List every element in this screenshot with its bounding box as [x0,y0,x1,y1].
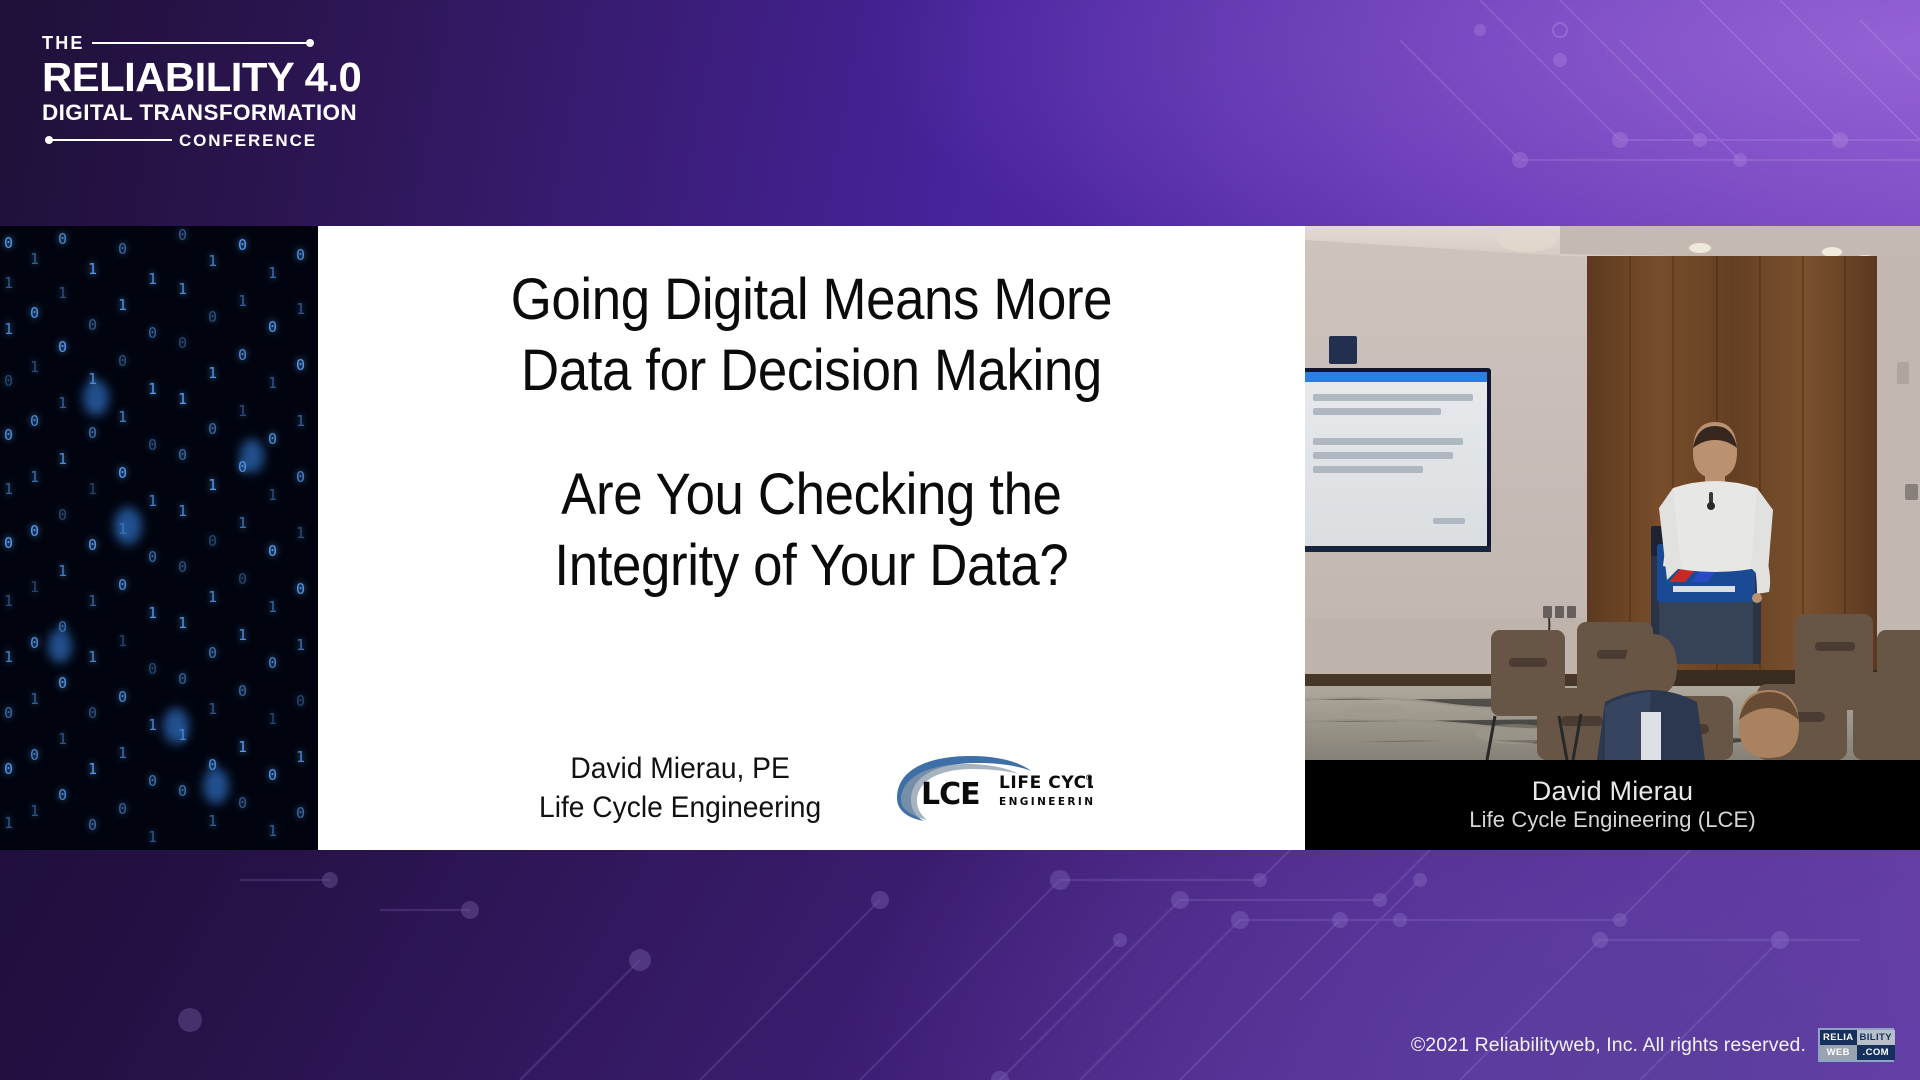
svg-text:1: 1 [238,626,247,644]
svg-text:1: 1 [118,296,127,314]
svg-text:0: 0 [4,760,13,778]
svg-text:ENGINEERING: ENGINEERING [999,796,1093,808]
svg-text:1: 1 [88,592,97,610]
svg-text:0: 0 [118,352,127,370]
svg-text:1: 1 [30,468,39,486]
svg-text:0: 0 [148,660,157,678]
logo-subtitle: DIGITAL TRANSFORMATION [42,101,317,125]
svg-text:1: 1 [88,480,97,498]
svg-text:0: 0 [30,746,39,764]
svg-text:0: 0 [238,794,247,812]
svg-text:0: 0 [208,308,217,326]
slide-title-line1: Going Digital Means More [511,264,1112,335]
svg-text:0: 0 [178,670,187,688]
svg-text:1: 1 [208,252,217,270]
svg-text:1: 1 [208,476,217,494]
slide-footer: David Mierau, PE Life Cycle Engineering … [318,749,1305,828]
svg-text:1: 1 [148,604,157,622]
svg-text:1: 1 [148,828,157,846]
svg-text:1: 1 [4,814,13,832]
svg-text:1: 1 [208,364,217,382]
svg-text:0: 0 [268,766,277,784]
presentation-slide: Going Digital Means More Data for Decisi… [318,226,1305,850]
svg-text:0: 0 [88,316,97,334]
svg-text:1: 1 [4,274,13,292]
svg-text:0: 0 [268,430,277,448]
svg-text:1: 1 [268,822,277,840]
svg-text:0: 0 [148,772,157,790]
slide-title: Going Digital Means More Data for Decisi… [511,264,1112,407]
lce-logo: LCE LIFE CYCLE ® ENGINEERING [893,754,1093,822]
svg-text:LCE: LCE [921,777,980,812]
svg-text:0: 0 [208,644,217,662]
slide-question-line2: Integrity of Your Data? [555,530,1069,601]
svg-text:1: 1 [178,502,187,520]
svg-text:0: 0 [30,412,39,430]
svg-text:1: 1 [88,260,97,278]
svg-text:1: 1 [4,592,13,610]
binary-code-image: 01 10 01 01 10 01 10 10 10 10 10 1 01 01… [0,226,318,850]
svg-text:0: 0 [88,704,97,722]
badge-cell-com: .COM [1857,1045,1895,1060]
logo-conference-text: CONFERENCE [179,132,317,149]
svg-text:LIFE CYCLE: LIFE CYCLE [999,773,1093,793]
svg-text:1: 1 [58,730,67,748]
speaker-lower-third: David Mierau Life Cycle Engineering (LCE… [1305,760,1920,850]
logo-top-row: THE [42,32,317,54]
logo-rule-bottom [49,139,172,141]
lower-third-name: David Mierau [1532,776,1693,807]
svg-text:0: 0 [4,704,13,722]
svg-text:1: 1 [4,320,13,338]
svg-text:1: 1 [238,514,247,532]
svg-text:0: 0 [238,682,247,700]
svg-text:1: 1 [268,264,277,282]
slide-title-line2: Data for Decision Making [511,335,1112,406]
svg-text:0: 0 [30,634,39,652]
svg-text:0: 0 [296,692,305,710]
svg-text:1: 1 [88,760,97,778]
svg-text:1: 1 [178,390,187,408]
svg-text:1: 1 [30,250,39,268]
svg-text:1: 1 [296,300,305,318]
speaker-video-feed[interactable]: David Mierau Life Cycle Engineering (LCE… [1305,226,1920,850]
svg-text:0: 0 [4,426,13,444]
svg-text:0: 0 [238,570,247,588]
svg-text:0: 0 [58,506,67,524]
presenter-organization: Life Cycle Engineering [539,788,821,828]
svg-text:0: 0 [178,782,187,800]
svg-text:0: 0 [268,654,277,672]
svg-text:1: 1 [58,450,67,468]
svg-text:0: 0 [118,464,127,482]
svg-text:0: 0 [148,548,157,566]
lower-third-organization: Life Cycle Engineering (LCE) [1469,807,1756,833]
svg-text:0: 0 [30,522,39,540]
svg-text:0: 0 [118,800,127,818]
svg-text:1: 1 [118,632,127,650]
svg-text:1: 1 [30,578,39,596]
svg-text:0: 0 [4,234,13,252]
svg-text:0: 0 [4,372,13,390]
svg-text:0: 0 [238,236,247,254]
conference-header: THE RELIABILITY 4.0 DIGITAL TRANSFORMATI… [0,0,1920,226]
svg-text:1: 1 [118,744,127,762]
svg-text:1: 1 [268,374,277,392]
svg-text:1: 1 [4,648,13,666]
svg-text:0: 0 [148,324,157,342]
svg-text:1: 1 [268,598,277,616]
svg-text:0: 0 [58,338,67,356]
svg-text:0: 0 [178,334,187,352]
badge-cell-relia: RELIA [1820,1030,1857,1045]
svg-text:0: 0 [268,318,277,336]
svg-text:1: 1 [30,690,39,708]
svg-text:1: 1 [238,292,247,310]
svg-text:0: 0 [88,816,97,834]
svg-text:1: 1 [208,700,217,718]
svg-text:1: 1 [30,802,39,820]
svg-text:1: 1 [58,562,67,580]
logo-title: RELIABILITY 4.0 [42,57,323,99]
svg-text:0: 0 [118,240,127,258]
svg-text:1: 1 [178,614,187,632]
svg-text:0: 0 [238,346,247,364]
svg-text:1: 1 [208,812,217,830]
logo-bottom-row: CONFERENCE [42,130,317,150]
svg-text:0: 0 [296,356,305,374]
svg-text:0: 0 [88,424,97,442]
svg-text:1: 1 [268,486,277,504]
svg-text:1: 1 [296,748,305,766]
svg-text:0: 0 [178,226,187,244]
svg-text:0: 0 [208,532,217,550]
svg-text:0: 0 [30,304,39,322]
svg-text:0: 0 [296,804,305,822]
slide-question-line1: Are You Checking the [555,459,1069,530]
svg-text:1: 1 [148,492,157,510]
svg-text:1: 1 [148,380,157,398]
conference-room-image [1305,226,1920,760]
svg-text:1: 1 [268,710,277,728]
svg-text:0: 0 [296,580,305,598]
svg-text:1: 1 [148,270,157,288]
slide-presenter-byline: David Mierau, PE Life Cycle Engineering [539,749,821,828]
badge-cell-web: WEB [1820,1045,1857,1060]
svg-text:1: 1 [58,394,67,412]
svg-text:0: 0 [118,688,127,706]
slide-question: Are You Checking the Integrity of Your D… [555,459,1069,602]
content-strip: 01 10 01 01 10 01 10 10 10 10 10 1 01 01… [0,226,1920,850]
svg-text:0: 0 [208,420,217,438]
svg-text:0: 0 [268,542,277,560]
svg-text:0: 0 [58,230,67,248]
svg-text:1: 1 [296,524,305,542]
svg-text:®: ® [1085,773,1093,782]
svg-text:1: 1 [148,716,157,734]
svg-text:0: 0 [58,786,67,804]
svg-text:1: 1 [238,738,247,756]
badge-cell-bility: BILITY [1857,1030,1895,1045]
presentation-viewer: THE RELIABILITY 4.0 DIGITAL TRANSFORMATI… [0,0,1920,1080]
svg-text:0: 0 [296,468,305,486]
svg-text:1: 1 [30,358,39,376]
footer: ©2021 Reliabilityweb, Inc. All rights re… [1411,1028,1894,1062]
logo-rule-top [92,42,310,44]
svg-text:1: 1 [208,588,217,606]
svg-text:1: 1 [58,284,67,302]
svg-text:0: 0 [296,246,305,264]
reliabilityweb-logo[interactable]: RELIA BILITY WEB .COM [1818,1028,1894,1062]
svg-text:0: 0 [4,534,13,552]
svg-text:1: 1 [238,402,247,420]
svg-text:0: 0 [58,674,67,692]
svg-text:0: 0 [178,558,187,576]
logo-the-text: THE [42,34,85,52]
svg-text:0: 0 [118,576,127,594]
copyright-text: ©2021 Reliabilityweb, Inc. All rights re… [1411,1034,1806,1057]
svg-text:1: 1 [118,408,127,426]
svg-text:0: 0 [178,446,187,464]
svg-text:1: 1 [296,412,305,430]
conference-logo: THE RELIABILITY 4.0 DIGITAL TRANSFORMATI… [42,32,317,150]
svg-text:1: 1 [178,280,187,298]
svg-text:1: 1 [4,480,13,498]
svg-text:0: 0 [148,436,157,454]
presenter-name: David Mierau, PE [539,749,821,789]
svg-text:1: 1 [88,648,97,666]
svg-text:1: 1 [296,636,305,654]
svg-text:0: 0 [88,536,97,554]
